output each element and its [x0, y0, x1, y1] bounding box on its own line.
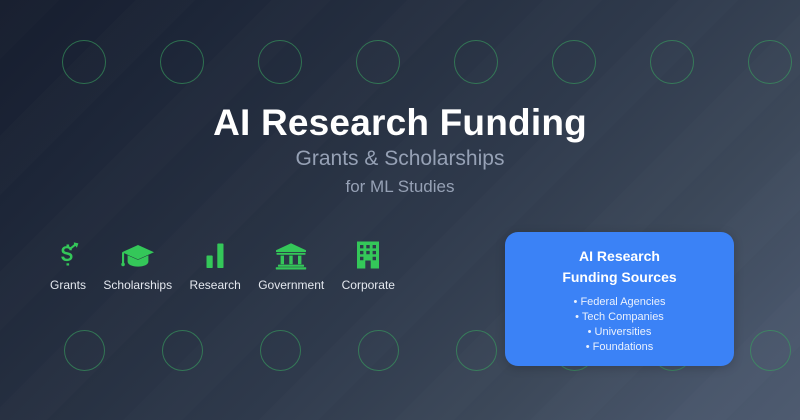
decorative-circle	[454, 40, 498, 84]
bar-chart-icon	[203, 238, 227, 272]
category-item-research[interactable]: Research	[189, 238, 240, 292]
page-subtitle-line2: for ML Studies	[0, 177, 800, 197]
decorative-circle	[64, 330, 105, 371]
decorative-circle	[750, 330, 791, 371]
card-title-line2: Funding Sources	[562, 267, 676, 288]
category-label: Research	[189, 278, 240, 292]
category-label: Corporate	[342, 278, 395, 292]
decorative-circle	[358, 330, 399, 371]
card-title-line1: AI Research	[579, 246, 660, 267]
bank-building-icon	[274, 238, 308, 272]
category-item-grants[interactable]: Grants	[50, 238, 86, 292]
office-building-icon	[354, 238, 382, 272]
card-bullet-item: • Tech Companies	[575, 310, 664, 325]
category-icon-strip: Grants Scholarships	[50, 238, 395, 304]
category-label: Government	[258, 278, 324, 292]
card-bullet-list: • Federal Agencies• Tech Companies• Univ…	[574, 295, 666, 355]
card-bullet-item: • Universities	[588, 325, 652, 340]
category-label: Grants	[50, 278, 86, 292]
page-title: AI Research Funding	[0, 102, 800, 144]
decorative-circle	[650, 40, 694, 84]
decorative-circle-row-top	[0, 40, 800, 90]
decorative-circle	[456, 330, 497, 371]
graduation-cap-icon	[121, 238, 155, 272]
category-item-corporate[interactable]: Corporate	[342, 238, 395, 292]
page-subtitle: Grants & Scholarships	[0, 147, 800, 171]
decorative-circle	[160, 40, 204, 84]
funding-sources-card[interactable]: AI Research Funding Sources • Federal Ag…	[505, 232, 734, 366]
money-dollar-icon	[53, 238, 83, 272]
decorative-circle	[552, 40, 596, 84]
decorative-circle	[162, 330, 203, 371]
category-item-government[interactable]: Government	[258, 238, 324, 292]
card-bullet-item: • Foundations	[586, 340, 653, 355]
poster-canvas: AI Research Funding Grants & Scholarship…	[0, 0, 800, 420]
decorative-circle	[258, 40, 302, 84]
decorative-circle	[748, 40, 792, 84]
decorative-circle	[62, 40, 106, 84]
card-bullet-item: • Federal Agencies	[574, 295, 666, 310]
decorative-circle	[356, 40, 400, 84]
category-item-scholarships[interactable]: Scholarships	[103, 238, 172, 292]
decorative-circle	[260, 330, 301, 371]
category-label: Scholarships	[103, 278, 172, 292]
